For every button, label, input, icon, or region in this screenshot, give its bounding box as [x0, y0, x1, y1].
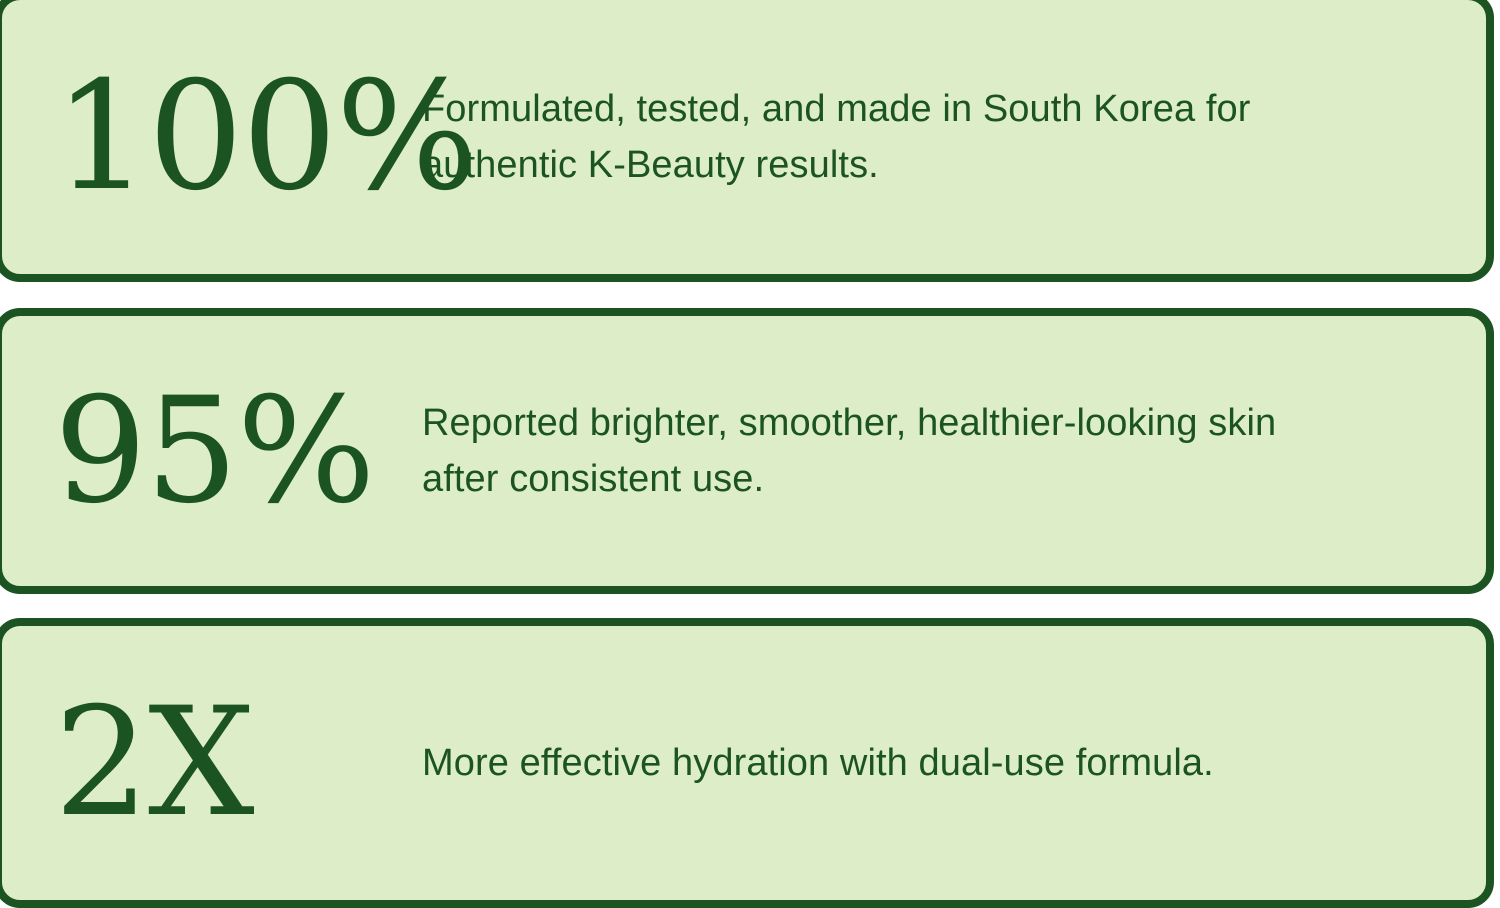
stat-description: Formulated, tested, and made in South Ko…	[422, 81, 1292, 193]
stat-card: 2X More effective hydration with dual-us…	[0, 618, 1494, 908]
stat-figure: 95%	[2, 378, 422, 524]
stat-figure: 100%	[2, 62, 422, 212]
stat-description: Reported brighter, smoother, healthier-l…	[422, 395, 1342, 507]
stat-description: More effective hydration with dual-use f…	[422, 735, 1362, 791]
stat-card: 100% Formulated, tested, and made in Sou…	[0, 0, 1494, 282]
stat-figure: 2X	[2, 688, 422, 838]
stats-board: 100% Formulated, tested, and made in Sou…	[0, 0, 1500, 900]
stat-card: 95% Reported brighter, smoother, healthi…	[0, 308, 1494, 594]
